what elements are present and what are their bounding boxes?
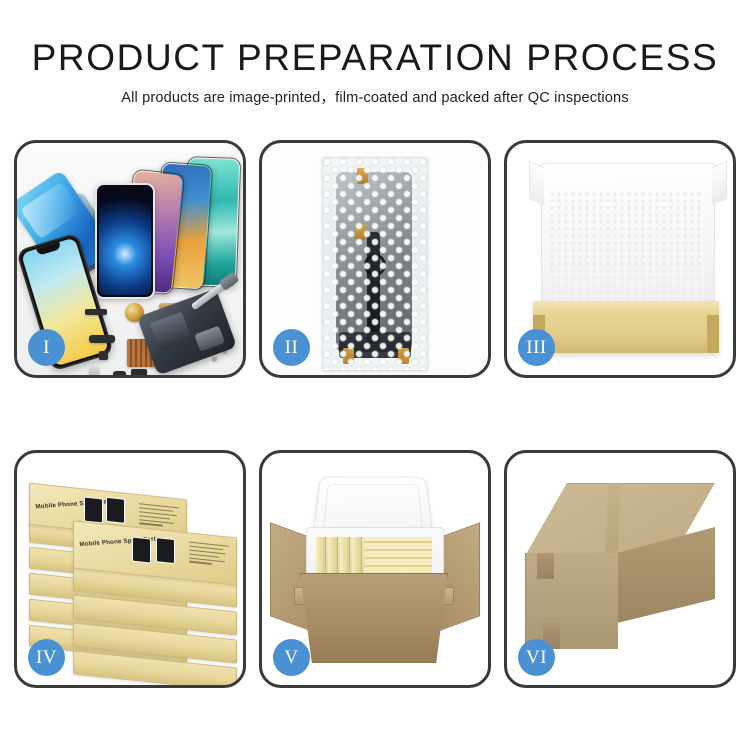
sim-tray-icon [89,367,99,375]
header: PRODUCT PREPARATION PROCESS All products… [0,36,750,108]
step-badge-6: VI [518,639,555,676]
open-inner-box-icon [527,161,713,355]
step-badge-1: I [28,329,65,366]
step-panel-1[interactable]: I [14,140,246,378]
product-preparation-page: PRODUCT PREPARATION PROCESS All products… [0,0,750,750]
page-title: PRODUCT PREPARATION PROCESS [0,36,750,80]
bubble-texture [323,158,427,370]
box-text-lines-front [189,542,229,572]
step-badge-4: IV [28,639,65,676]
step-badge-2: II [273,329,310,366]
battery-connector-icon [99,351,108,360]
page-subtitle: All products are image-printed，film-coat… [0,89,750,108]
carton-tape-tab-upper [537,553,554,579]
bubble-wrap-bag-icon [322,157,428,371]
yellow-box-base-icon [533,301,719,353]
lcd-display-icon [95,183,155,299]
flex-ribbon-left-icon [89,335,115,343]
camera-module-icon [113,371,126,375]
step-badge-3: III [518,329,555,366]
foam-sheet-icon [549,191,705,303]
process-steps-grid: I II [14,140,736,688]
open-carton-icon [272,469,478,671]
box-brand-label-back: Mobile Phone Spare Parts [35,498,116,511]
step-panel-3[interactable]: III [504,140,736,378]
carton-body-icon [300,573,448,663]
step-panel-5[interactable]: V [259,450,491,688]
step-panel-4[interactable]: Mobile Phone Spare Parts [14,450,246,688]
box-stack-icon: Mobile Phone Spare Parts [27,471,237,671]
step-panel-2[interactable]: II [259,140,491,378]
screw-a-icon [212,356,217,361]
vibration-motor-icon [131,369,147,375]
component-bar-icon [85,309,107,315]
step-badge-5: V [273,639,310,676]
step-panel-6[interactable]: VI [504,450,736,688]
